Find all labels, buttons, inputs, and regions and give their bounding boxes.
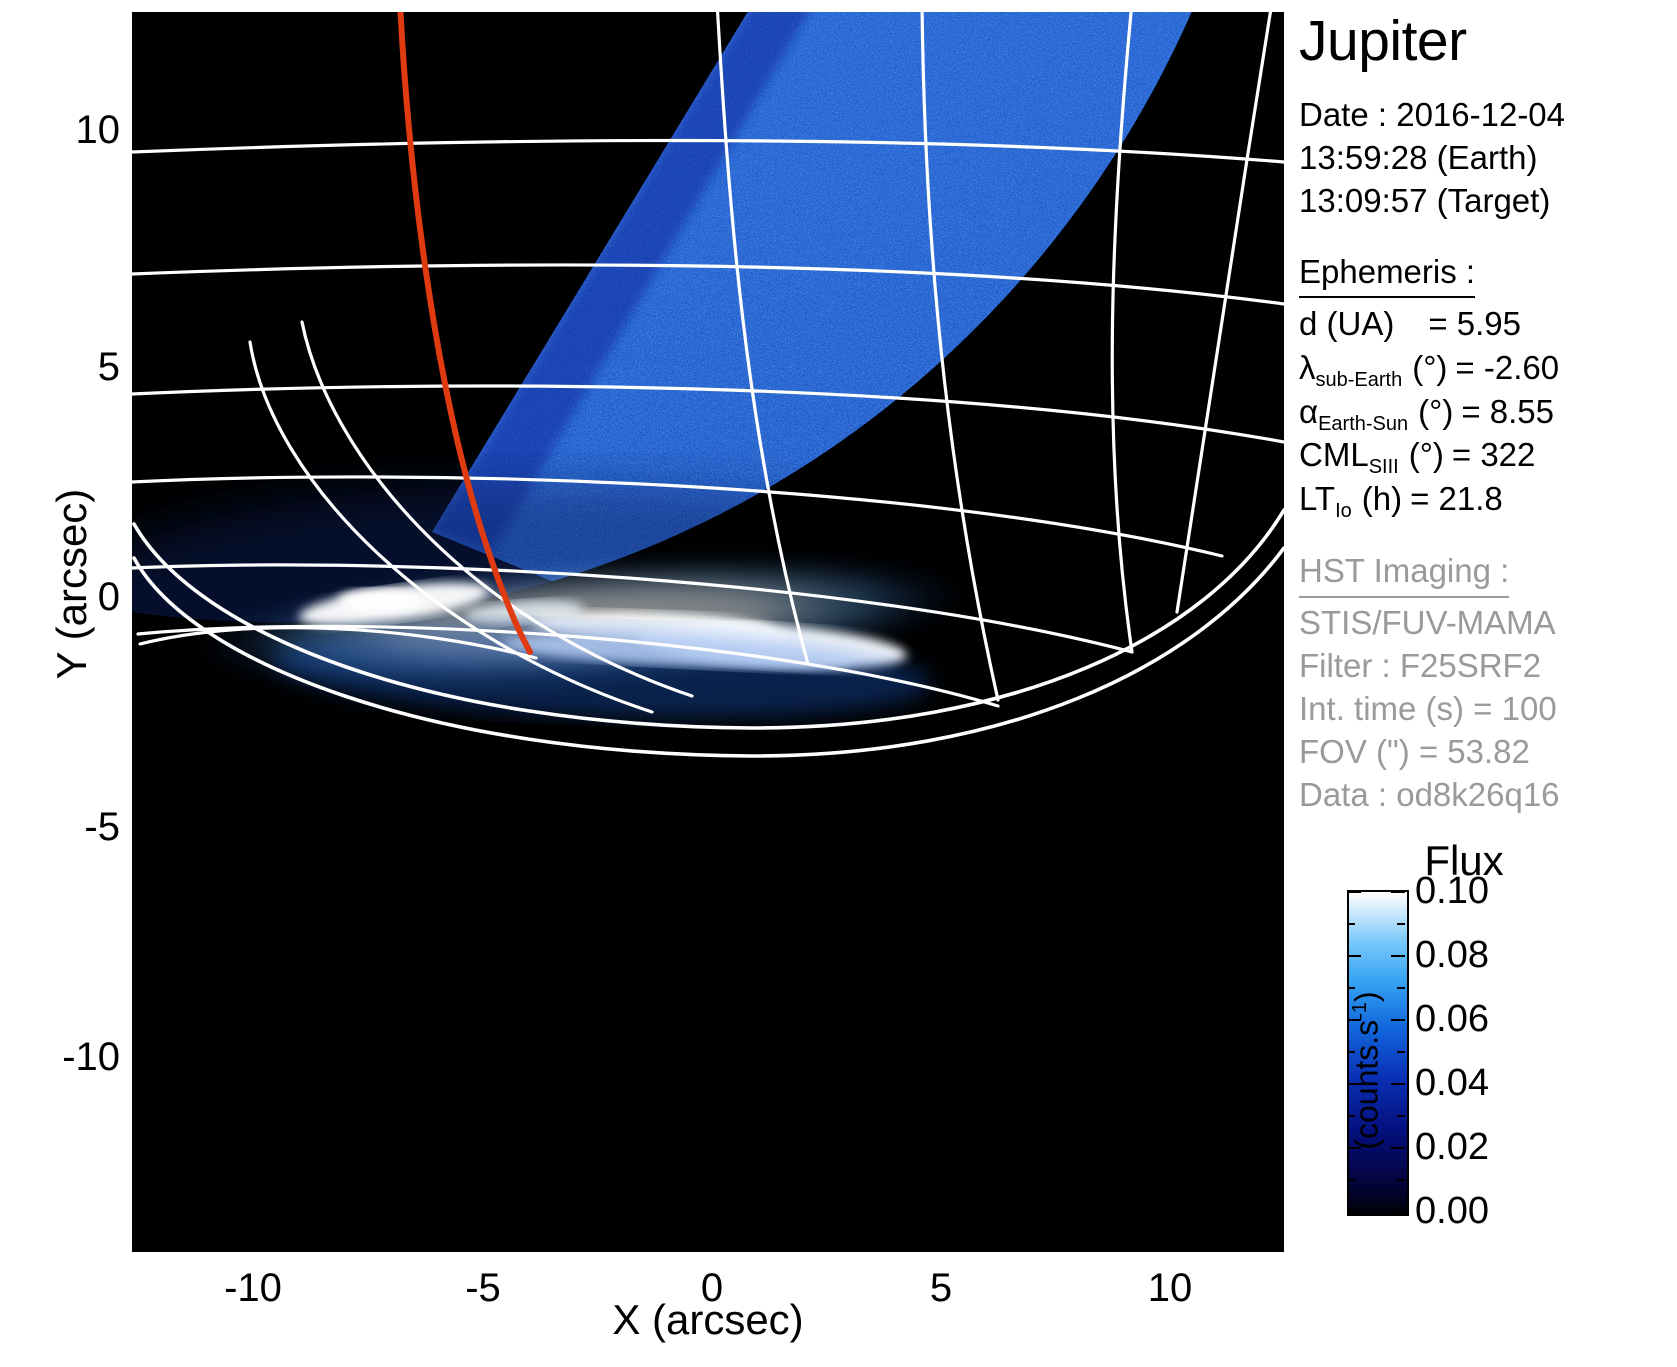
colorbar-minor-2-right <box>1397 987 1405 989</box>
ephemeris-row-cml: CMLSIII (°) = 322 <box>1299 433 1677 477</box>
eph-sub-alpha: Earth-Sun <box>1318 413 1408 435</box>
eph-value-lt: = 21.8 <box>1410 477 1503 521</box>
eph-value-alpha: = 8.55 <box>1461 390 1554 434</box>
y-tick-10: 10 <box>10 110 120 150</box>
time-earth-line: 13:59:28 (Earth) <box>1299 137 1677 180</box>
page-title: Jupiter <box>1299 12 1677 72</box>
colorbar-label-002: 0.02 <box>1415 1128 1489 1166</box>
colorbar-axis-label-exponent: -1 <box>1349 1002 1371 1020</box>
colorbar-tick-006-right <box>1391 1019 1405 1021</box>
y-tick-5: 5 <box>10 347 120 387</box>
eph-label-cml: CML <box>1299 436 1369 473</box>
eph-label-lt: LT <box>1299 480 1335 517</box>
eph-value-d: = 5.95 <box>1428 302 1521 346</box>
hst-heading: HST Imaging : <box>1299 550 1509 598</box>
info-panel: Jupiter Date : 2016-12-04 13:59:28 (Eart… <box>1299 12 1677 816</box>
hst-filter: Filter : F25SRF2 <box>1299 645 1677 688</box>
date-line: Date : 2016-12-04 <box>1299 94 1677 137</box>
colorbar-tick-008-right <box>1391 955 1405 957</box>
colorbar-minor-5-right <box>1397 1179 1405 1181</box>
y-tick-neg5: -5 <box>10 807 120 847</box>
ephemeris-row-alpha: αEarth-Sun (°) = 8.55 <box>1299 390 1677 434</box>
ephemeris-block: Ephemeris : d (UA) = 5.95 λsub-Earth (°)… <box>1299 251 1677 521</box>
colorbar-tick-000-right <box>1391 1211 1405 1213</box>
eph-unit-lt: (h) <box>1362 477 1402 521</box>
x-tick-neg10: -10 <box>183 1268 323 1308</box>
hst-fov: FOV (") = 53.82 <box>1299 731 1677 774</box>
eph-unit-cml: (°) <box>1409 433 1444 477</box>
colorbar-label-008: 0.08 <box>1415 936 1489 974</box>
hst-imaging-block: HST Imaging : STIS/FUV-MAMA Filter : F25… <box>1299 550 1677 816</box>
colorbar-minor-1-right <box>1397 923 1405 925</box>
hst-instrument: STIS/FUV-MAMA <box>1299 602 1677 645</box>
hst-int-time: Int. time (s) = 100 <box>1299 688 1677 731</box>
ephemeris-row-distance: d (UA) = 5.95 <box>1299 302 1677 346</box>
image-plot-area <box>132 12 1284 1252</box>
colorbar-tick-010-left <box>1347 891 1361 893</box>
colorbar-minor-4-right <box>1397 1115 1405 1117</box>
colorbar-label-010: 0.10 <box>1415 872 1489 910</box>
jupiter-aurora-image <box>132 12 1284 1252</box>
colorbar-label-006: 0.06 <box>1415 1000 1489 1038</box>
eph-unit-alpha: (°) <box>1418 390 1453 434</box>
x-axis-title: X (arcsec) <box>508 1296 908 1344</box>
eph-sub-cml: SIII <box>1369 456 1399 478</box>
eph-sub-lt: Io <box>1335 500 1352 522</box>
colorbar-label-004: 0.04 <box>1415 1064 1489 1102</box>
eph-label-lambda: λ <box>1299 349 1316 386</box>
colorbar-axis-label-pre: (counts.s <box>1349 1020 1385 1150</box>
colorbar-axis-label: (counts.s-1) <box>1349 921 1386 1221</box>
y-axis-title: Y (arcsec) <box>48 434 96 734</box>
hst-data-id: Data : od8k26q16 <box>1299 774 1677 817</box>
eph-label-d: d (UA) <box>1299 305 1394 342</box>
colorbar-axis-label-post: ) <box>1349 991 1385 1002</box>
time-target-line: 13:09:57 (Target) <box>1299 180 1677 223</box>
ephemeris-heading: Ephemeris : <box>1299 251 1475 299</box>
colorbar-tick-004-right <box>1391 1083 1405 1085</box>
eph-label-alpha: α <box>1299 393 1318 430</box>
ephemeris-row-lt: LTIo (h) = 21.8 <box>1299 477 1677 521</box>
ephemeris-row-lambda: λsub-Earth (°) = -2.60 <box>1299 346 1677 390</box>
eph-value-cml: = 322 <box>1452 433 1536 477</box>
colorbar-label-000: 0.00 <box>1415 1192 1489 1230</box>
colorbar-minor-3-right <box>1397 1051 1405 1053</box>
eph-value-lambda: = -2.60 <box>1455 346 1559 390</box>
x-tick-10: 10 <box>1100 1268 1240 1308</box>
eph-unit-lambda: (°) <box>1412 346 1447 390</box>
observation-time-block: Date : 2016-12-04 13:59:28 (Earth) 13:09… <box>1299 94 1677 223</box>
colorbar-tick-010-right <box>1391 891 1405 893</box>
eph-sub-lambda: sub-Earth <box>1316 369 1403 391</box>
y-tick-neg10: -10 <box>10 1037 120 1077</box>
colorbar-tick-002-right <box>1391 1147 1405 1149</box>
